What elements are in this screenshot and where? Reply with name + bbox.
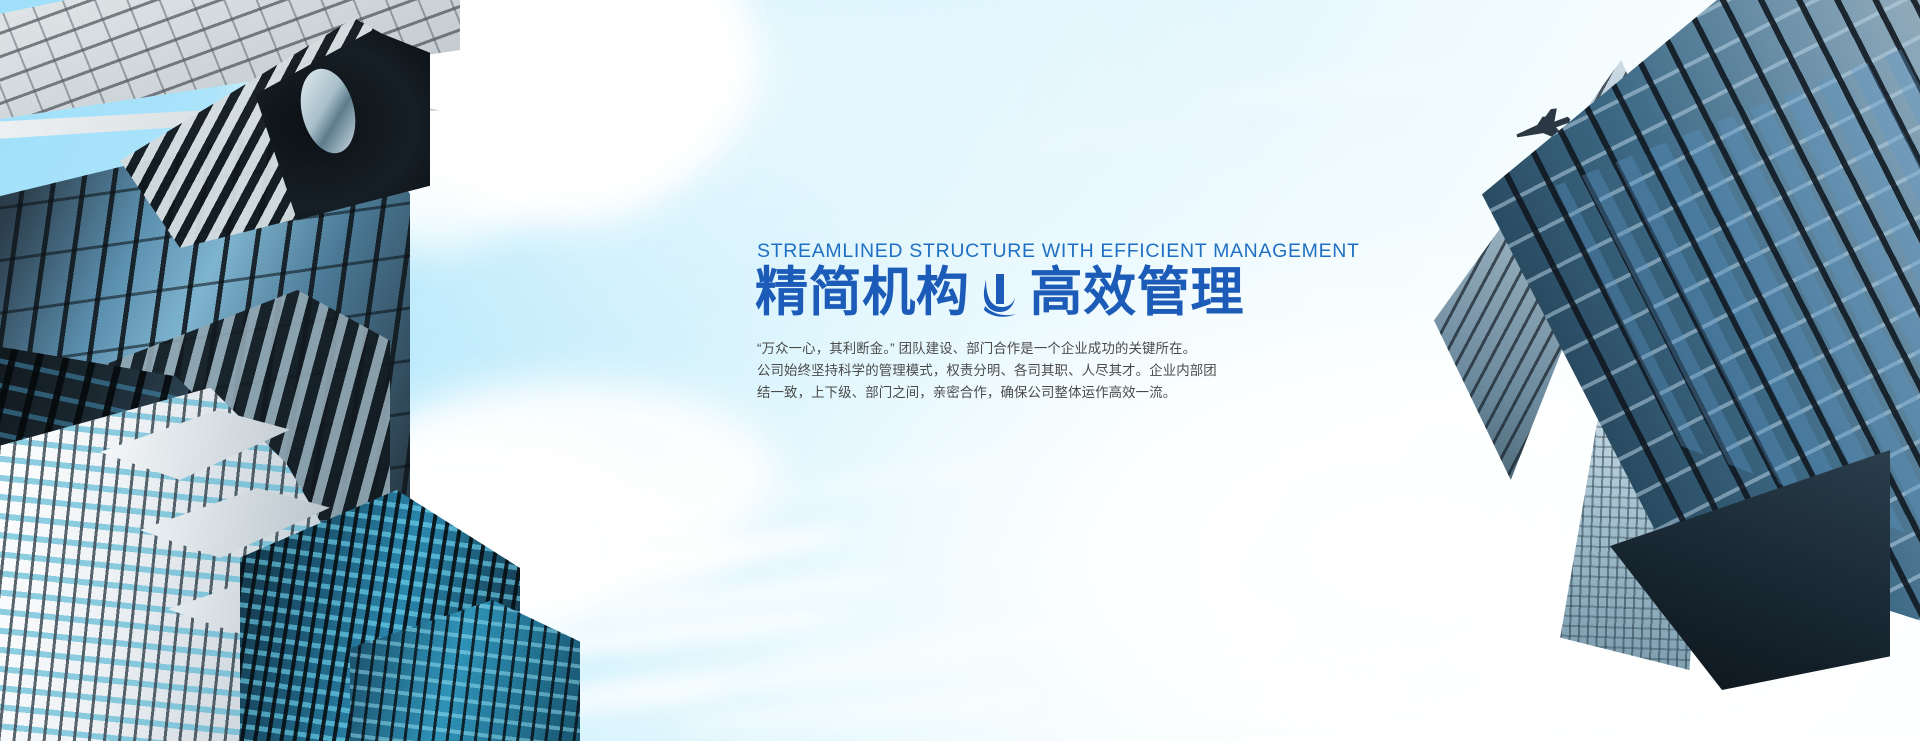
bottom-blue-slab [350,600,580,741]
headline-left-text: 精简机构 [755,265,970,321]
hero-copy-block: STREAMLINED STRUCTURE WITH EFFICIENT MAN… [755,240,1375,403]
company-swoosh-mark-icon [980,273,1020,319]
headline-right-text: 高效管理 [1030,265,1245,321]
description-line: “万众一心，其利断金。” 团队建设、部门合作是一个企业成功的关键所在。 [757,338,1375,360]
right-glass-tower [1390,0,1920,670]
page-title: 精简机构 高效管理 [755,265,1375,321]
description-line: 结一致，上下级、部门之间，亲密合作，确保公司整体运作高效一流。 [757,382,1375,404]
eyebrow-text: STREAMLINED STRUCTURE WITH EFFICIENT MAN… [757,240,1375,263]
hero-banner: STREAMLINED STRUCTURE WITH EFFICIENT MAN… [0,0,1920,741]
description-paragraph: “万众一心，其利断金。” 团队建设、部门合作是一个企业成功的关键所在。 公司始终… [757,338,1375,403]
description-line: 公司始终坚持科学的管理模式，权责分明、各司其职、人尽其才。企业内部团 [757,360,1375,382]
